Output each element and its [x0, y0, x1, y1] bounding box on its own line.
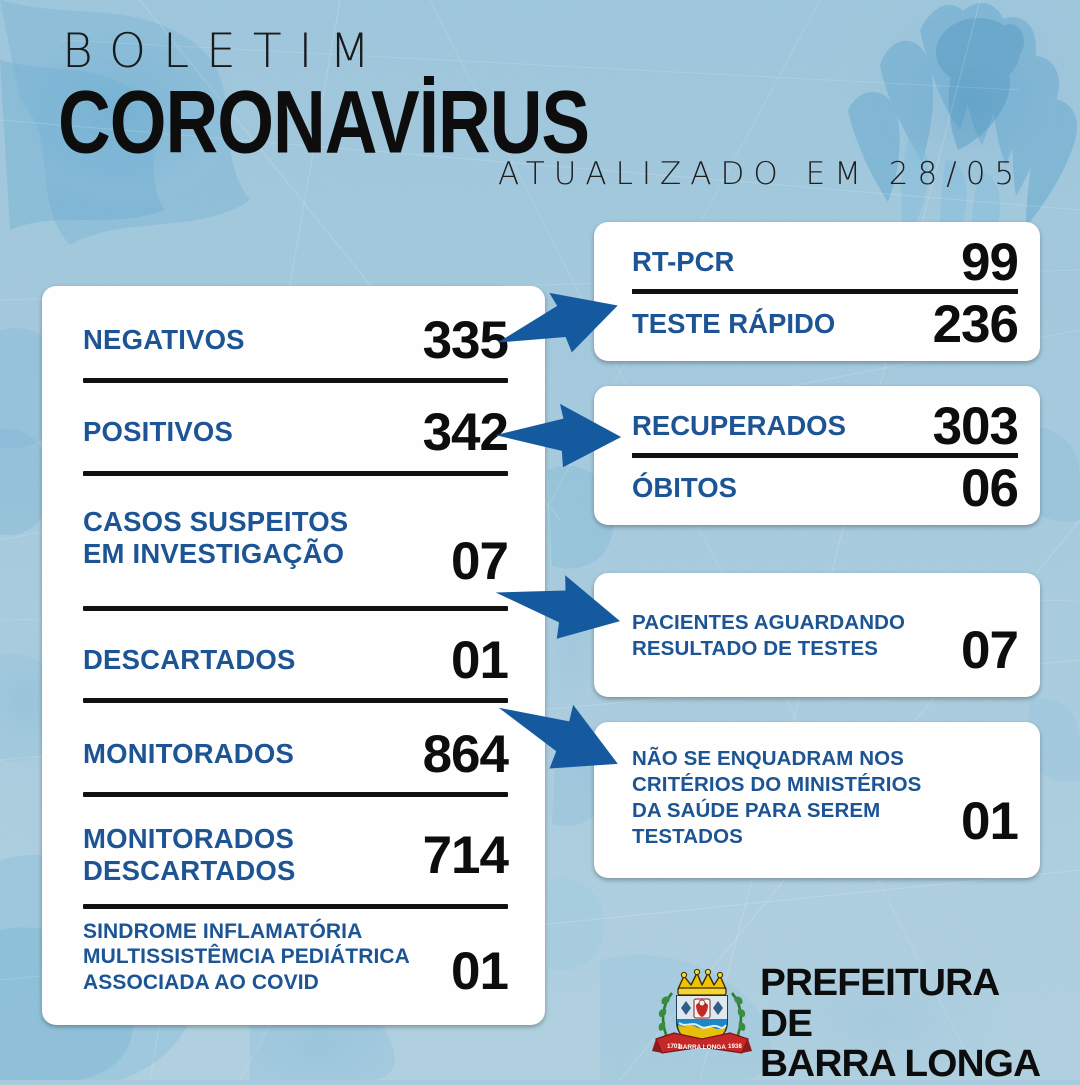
stat-label: NÃO SE ENQUADRAM NOS CRITÉRIOS DO MINIST… — [632, 746, 942, 849]
stat-row-casos-suspeitos: CASOS SUSPEITOS EM INVESTIGAÇÃO 07 — [83, 484, 508, 592]
stat-label: SINDROME INFLAMATÓRIA MULTISSISTÊMCIA PE… — [83, 919, 413, 996]
stat-label: POSITIVOS — [83, 416, 233, 448]
stat-value: 714 — [423, 829, 508, 882]
page-header: BOLETIM CORONAVİRUS ATUALIZADO EM 28/05 — [0, 0, 1080, 215]
arrow-negativos-to-tests — [494, 286, 626, 370]
stat-label: RT-PCR — [632, 246, 734, 278]
stat-row-recuperados: RECUPERADOS 303 — [632, 400, 1018, 452]
stat-label: MONITORADOS DESCARTADOS — [83, 823, 363, 887]
stat-label: PACIENTES AGUARDANDO RESULTADO DE TESTES — [632, 610, 932, 662]
stat-row-negativos: NEGATIVOS 335 — [83, 314, 508, 366]
arrow-positivos-to-outcomes — [494, 398, 626, 482]
stat-row-teste-rapido: TESTE RÁPIDO 236 — [632, 298, 1018, 350]
stat-value: 99 — [961, 236, 1018, 289]
stat-label: DESCARTADOS — [83, 644, 296, 676]
main-statistics-list: NEGATIVOS 335 POSITIVOS 342 CASOS SUSPEI… — [83, 286, 508, 1025]
stat-label: CASOS SUSPEITOS EM INVESTIGAÇÃO — [83, 506, 383, 570]
stat-row-sindrome-inflamatoria: SINDROME INFLAMATÓRIA MULTISSISTÊMCIA PE… — [83, 914, 508, 1000]
stat-label: TESTE RÁPIDO — [632, 308, 835, 340]
prefeitura-line2: BARRA LONGA — [760, 1044, 1056, 1085]
page-title: CORONAVİRUS — [58, 78, 589, 167]
prefeitura-line1: PREFEITURA DE — [760, 963, 1056, 1044]
stat-label: RECUPERADOS — [632, 410, 846, 442]
stat-label: ÓBITOS — [632, 472, 737, 504]
awaiting-results-card: PACIENTES AGUARDANDO RESULTADO DE TESTES… — [594, 573, 1040, 697]
divider — [83, 698, 508, 703]
divider — [632, 453, 1018, 458]
crest-ribbon-year-right: 1938 — [728, 1043, 742, 1050]
stat-value: 303 — [933, 400, 1018, 453]
header-kicker: BOLETIM — [62, 28, 387, 75]
divider — [83, 471, 508, 476]
stat-row-nao-se-enquadram: NÃO SE ENQUADRAM NOS CRITÉRIOS DO MINIST… — [632, 742, 1018, 854]
header-updated-date: ATUALIZADO EM 28/05 — [498, 159, 1023, 190]
prefeitura-wordmark: PREFEITURA DE BARRA LONGA — [760, 963, 1056, 1085]
stat-row-positivos: POSITIVOS 342 — [83, 406, 508, 458]
stat-row-descartados: DESCARTADOS 01 — [83, 634, 508, 686]
not-eligible-card: NÃO SE ENQUADRAM NOS CRITÉRIOS DO MINIST… — [594, 722, 1040, 878]
divider — [83, 904, 508, 909]
arrow-descartados-to-not-eligible — [488, 686, 628, 798]
stat-value: 01 — [961, 795, 1018, 848]
stat-value: 06 — [961, 462, 1018, 515]
divider — [83, 378, 508, 383]
stat-label: NEGATIVOS — [83, 324, 245, 356]
stat-row-obitos: ÓBITOS 06 — [632, 462, 1018, 514]
divider — [83, 606, 508, 611]
stat-row-rt-pcr: RT-PCR 99 — [632, 236, 1018, 288]
outcomes-card: RECUPERADOS 303 ÓBITOS 06 — [594, 386, 1040, 525]
stat-row-pacientes-aguardando: PACIENTES AGUARDANDO RESULTADO DE TESTES… — [632, 595, 1018, 677]
footer: 1701 BARRA LONGA 1938 PREFEITURA DE BARR… — [650, 955, 1050, 1067]
divider — [632, 289, 1018, 294]
stat-value: 236 — [933, 298, 1018, 351]
stat-row-monitorados: MONITORADOS 864 — [83, 728, 508, 780]
stat-label: MONITORADOS — [83, 738, 294, 770]
stat-row-monitorados-descartados: MONITORADOS DESCARTADOS 714 — [83, 814, 508, 896]
barra-longa-coat-of-arms-icon: 1701 BARRA LONGA 1938 — [650, 959, 754, 1063]
tests-card: RT-PCR 99 TESTE RÁPIDO 236 — [594, 222, 1040, 361]
main-statistics-card: NEGATIVOS 335 POSITIVOS 342 CASOS SUSPEI… — [42, 286, 545, 1025]
stat-value: 07 — [961, 624, 1018, 677]
stat-value: 01 — [451, 945, 508, 998]
crest-ribbon-city: BARRA LONGA — [678, 1044, 726, 1051]
arrow-investigacao-to-awaiting — [490, 565, 624, 661]
divider — [83, 792, 508, 797]
